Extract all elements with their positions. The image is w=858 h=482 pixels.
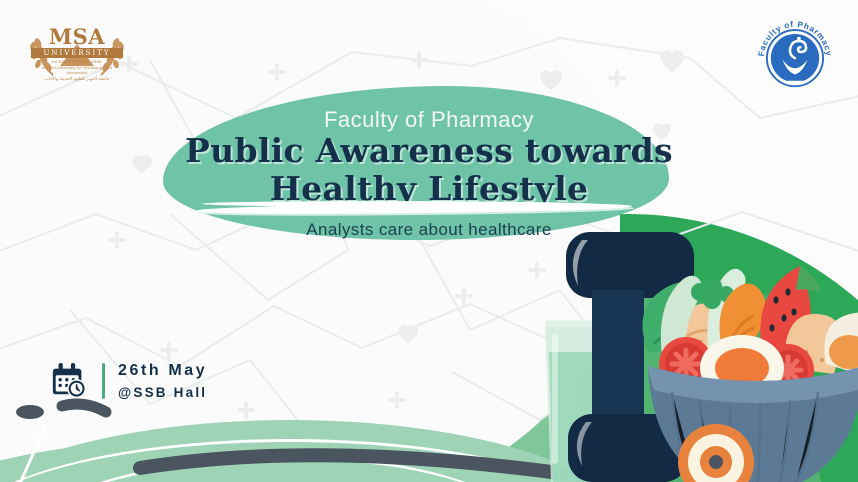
title-blob-shape-secondary [196,96,666,238]
msa-university-logo: MSA UNIVERSITY IN EGYPT SINCE 1996 Moder… [31,26,123,92]
msa-affiliation-en: Modern University for Technology and Inf… [31,65,123,75]
healthy-lifestyle-illustration [0,0,858,482]
calendar-clock-icon [50,362,88,400]
event-date-venue: 26th May @SSB Hall [50,362,207,400]
event-venue: @SSB Hall [118,386,207,400]
date-divider [102,363,105,399]
msa-wordmark: MSA [31,26,123,47]
msa-university-banner: UNIVERSITY [31,48,123,58]
stethoscope-earpiece [16,405,44,419]
faculty-of-pharmacy-logo: Faculty of Pharmacy [756,16,834,94]
event-poster: Faculty of Pharmacy Public Awareness tow… [0,0,858,482]
msa-established-text: IN EGYPT SINCE 1996 [31,59,123,64]
event-date: 26th May [118,363,207,379]
msa-affiliation-ar: جامعة أكتوبر للعلوم الحديثة والآداب [31,76,123,82]
